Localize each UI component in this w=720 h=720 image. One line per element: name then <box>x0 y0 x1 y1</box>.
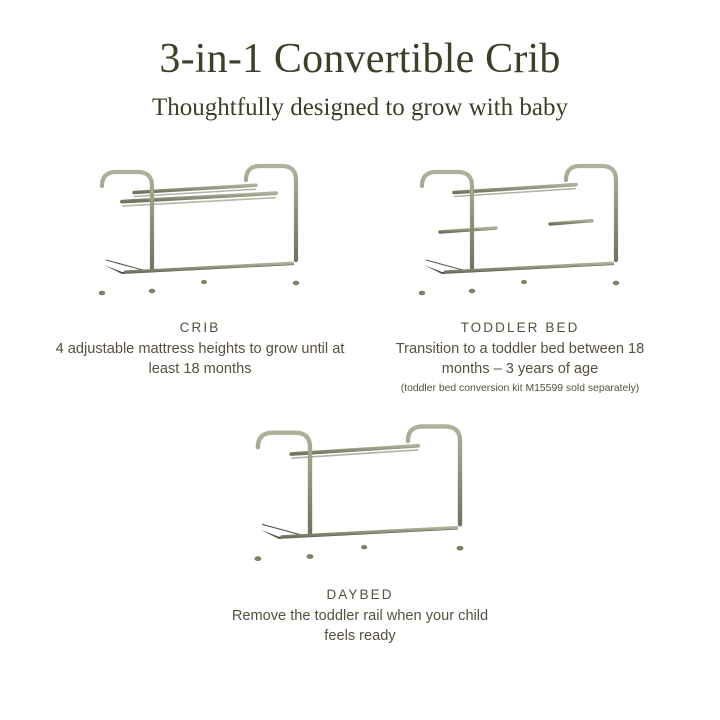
caption-heading-daybed: DAYBED <box>326 587 393 602</box>
panel-crib: CRIB 4 adjustable mattress heights to gr… <box>40 144 360 396</box>
caption-heading-crib: CRIB <box>180 320 221 335</box>
metal-crib-illustration <box>80 144 320 314</box>
caption-body-crib: 4 adjustable mattress heights to grow un… <box>55 339 345 379</box>
top-panel-row: CRIB 4 adjustable mattress heights to gr… <box>0 144 720 396</box>
caption-heading-toddler-bed: TODDLER BED <box>461 320 580 335</box>
panel-toddler-bed: TODDLER BED Transition to a toddler bed … <box>360 144 680 396</box>
page-subtitle: Thoughtfully designed to grow with baby <box>152 94 568 122</box>
caption-body-toddler-bed: Transition to a toddler bed between 18 m… <box>375 339 665 379</box>
metal-daybed-illustration <box>235 403 485 581</box>
metal-toddler-bed-illustration <box>400 144 640 314</box>
caption-body-daybed: Remove the toddler rail when your child … <box>215 606 505 646</box>
infographic-page: 3-in-1 Convertible Crib Thoughtfully des… <box>0 0 720 720</box>
panel-daybed: DAYBED Remove the toddler rail when your… <box>180 403 540 646</box>
page-title: 3-in-1 Convertible Crib <box>159 38 560 80</box>
caption-fine-print-toddler-bed: (toddler bed conversion kit M15599 sold … <box>401 382 640 396</box>
